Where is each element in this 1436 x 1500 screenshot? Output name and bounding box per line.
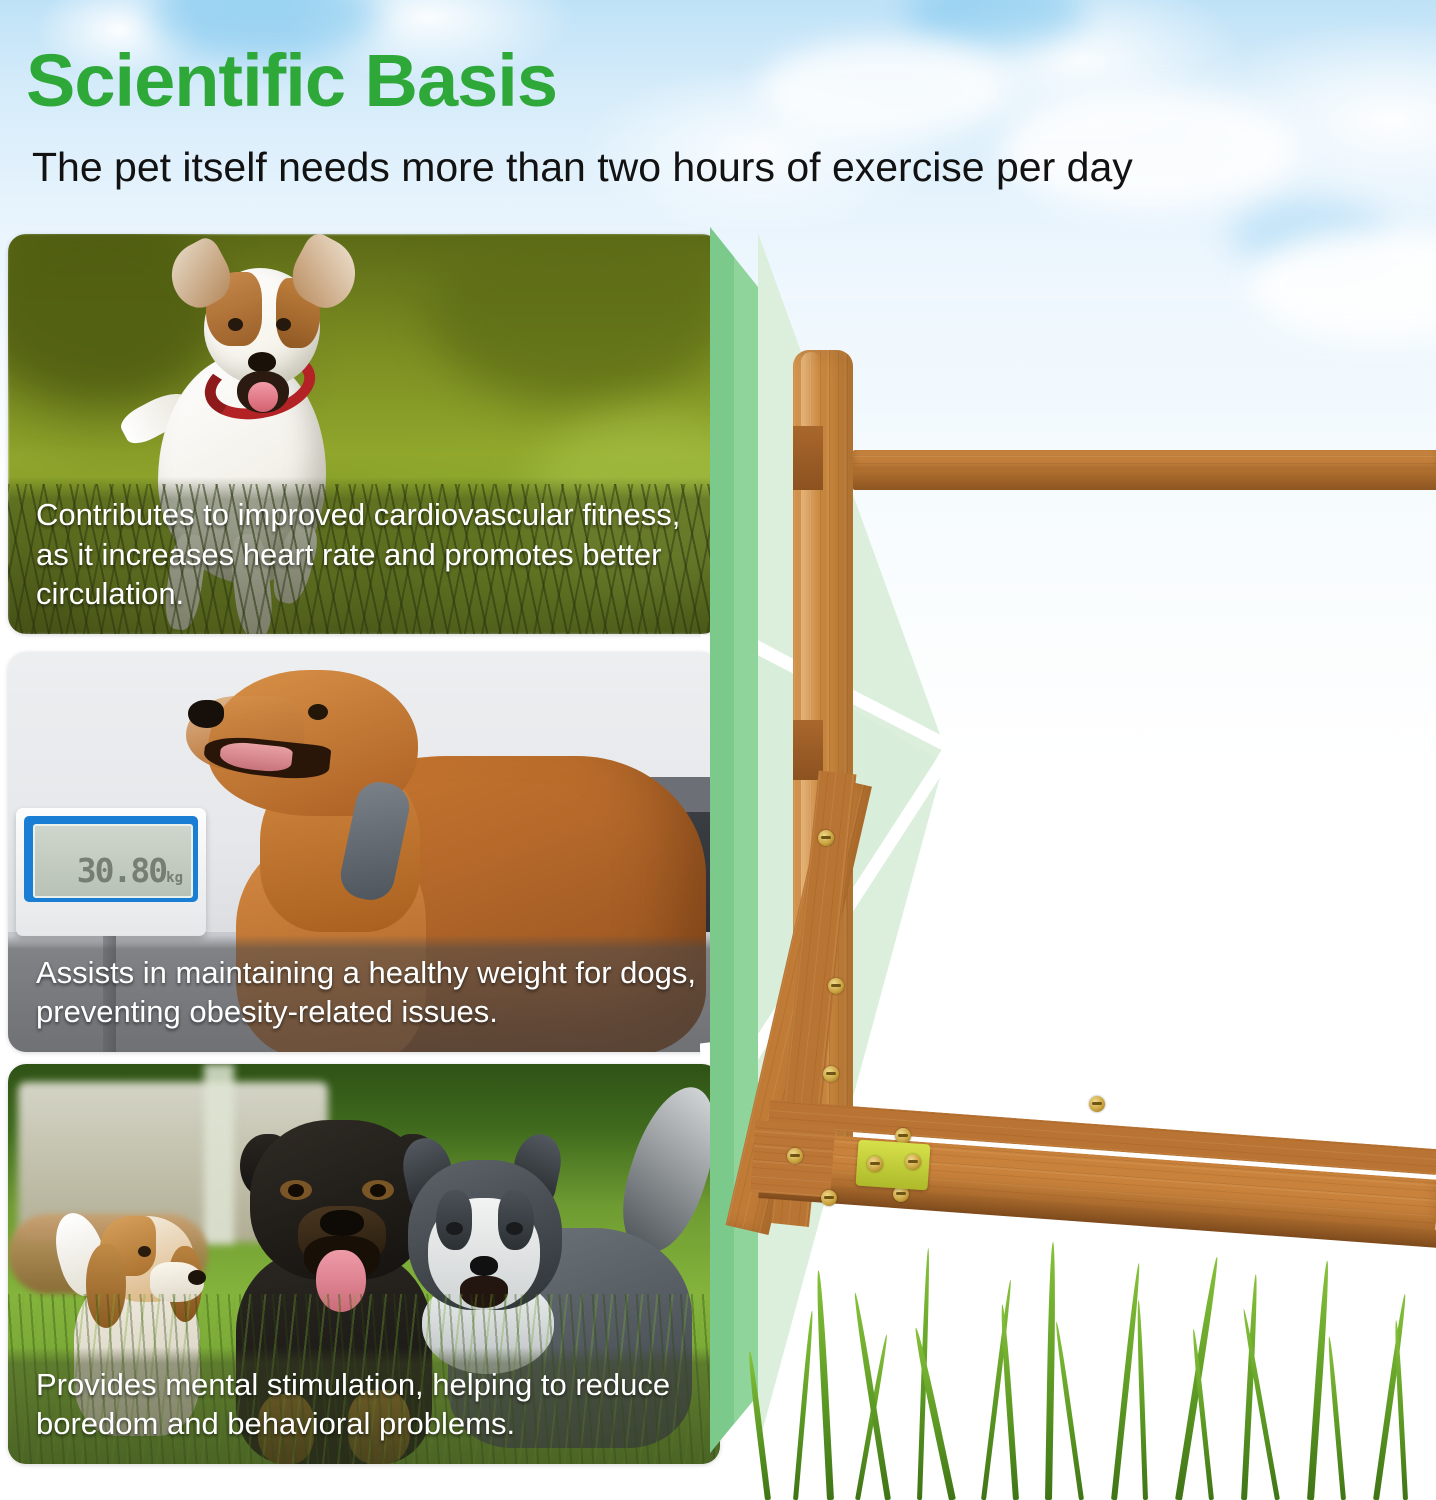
foreground-grass: [735, 1230, 1436, 1500]
screw: [818, 830, 834, 846]
page-title: Scientific Basis: [26, 44, 557, 118]
benefit-panel-healthy-weight: 30.80kg Assists in maintaining a healthy…: [8, 652, 720, 1052]
panel-caption: Provides mental stimulation, helping to …: [8, 1347, 720, 1464]
panel-caption: Assists in maintaining a healthy weight …: [8, 935, 720, 1052]
funnel-band-highlight: [710, 227, 734, 1453]
jump-post-notch: [793, 426, 823, 490]
jump-top-rail-edge: [853, 470, 1436, 490]
jump-top-rail: [853, 450, 1436, 472]
screw: [821, 1190, 837, 1206]
screw: [787, 1148, 803, 1164]
infographic-canvas: Scientific Basis The pet itself needs mo…: [0, 0, 1436, 1500]
cloud: [760, 40, 1010, 140]
screw: [823, 1066, 839, 1082]
scale-lcd-display: 30.80kg: [33, 824, 193, 898]
screw: [1089, 1096, 1105, 1112]
wooden-dog-agility-jump: [735, 330, 1436, 1330]
bracket-screw: [867, 1156, 883, 1172]
screw: [828, 978, 844, 994]
scale-reading-unit: kg: [166, 870, 183, 886]
panel-caption: Contributes to improved cardiovascular f…: [8, 477, 720, 634]
benefit-panel-mental-stimulation: Provides mental stimulation, helping to …: [8, 1064, 720, 1464]
scale-reading-value: 30.80: [77, 851, 166, 890]
benefit-panel-cardiovascular: Contributes to improved cardiovascular f…: [8, 234, 720, 634]
bracket-screw: [905, 1154, 921, 1170]
page-subtitle: The pet itself needs more than two hours…: [32, 145, 1133, 190]
